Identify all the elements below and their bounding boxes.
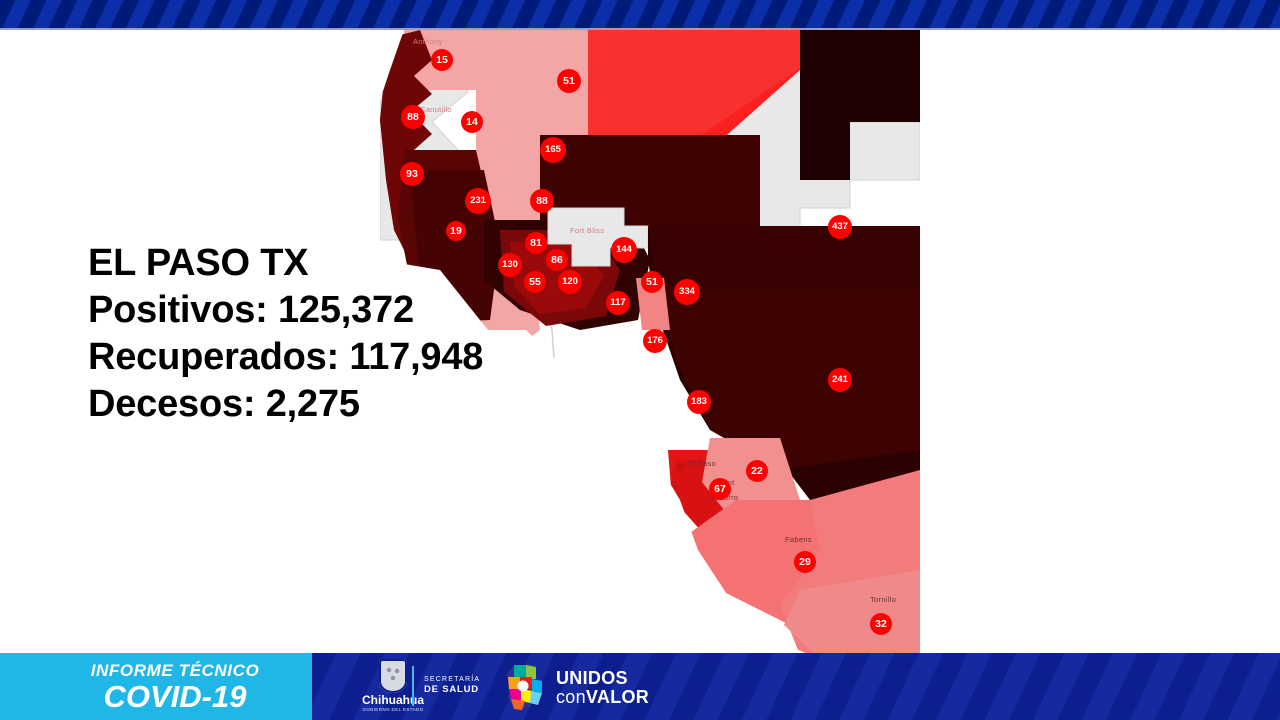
stats-title: EL PASO TX <box>88 240 558 287</box>
map-marker[interactable]: 67 <box>709 478 731 500</box>
unidos-con: con <box>556 687 586 707</box>
map-marker[interactable]: 51 <box>557 69 581 93</box>
unidos-line-2: conVALOR <box>556 688 649 707</box>
secretaria-line-2: DE SALUD <box>424 684 480 696</box>
map-marker-value: 241 <box>828 368 852 392</box>
map-marker[interactable]: 22 <box>746 460 768 482</box>
map-marker-value: 51 <box>557 69 581 93</box>
unidos-con-valor-text: UNIDOS conVALOR <box>556 669 649 707</box>
map-marker-value: 67 <box>709 478 731 500</box>
unidos-valor: VALOR <box>586 687 649 707</box>
map-marker[interactable]: 117 <box>606 291 630 315</box>
map-marker-value: 437 <box>828 215 852 239</box>
map-region-se-strip <box>656 290 920 470</box>
map-marker-value: 231 <box>465 188 491 214</box>
chihuahua-subtitle: GOBIERNO DEL ESTADO <box>352 707 434 712</box>
map-marker[interactable]: 93 <box>400 162 424 186</box>
map-marker[interactable]: 437 <box>828 215 852 239</box>
map-marker[interactable]: 144 <box>611 237 637 263</box>
map-marker[interactable]: 165 <box>540 137 566 163</box>
map-marker-value: 144 <box>611 237 637 263</box>
map-marker[interactable]: 88 <box>401 105 425 129</box>
map-marker-value: 93 <box>400 162 424 186</box>
map-label-fort-bliss: Fort Bliss <box>570 226 604 235</box>
el-paso-city-dot <box>676 463 684 471</box>
map-marker[interactable]: 51 <box>641 271 663 293</box>
map-label-tornillo: Tornillo <box>870 595 896 604</box>
informe-line-2: COVID-19 <box>60 680 290 713</box>
map-marker-value: 32 <box>870 613 892 635</box>
map-marker-value: 19 <box>446 221 466 241</box>
unidos-line-1: UNIDOS <box>556 669 649 688</box>
map-marker[interactable]: 231 <box>465 188 491 214</box>
stats-positivos: Positivos: 125,372 <box>88 287 558 334</box>
bottom-banner: INFORME TÉCNICO COVID-19 Chihuahua GOBIE… <box>0 653 1280 720</box>
map-marker-value: 51 <box>641 271 663 293</box>
map-marker-value: 176 <box>643 329 667 353</box>
map-marker-value: 29 <box>794 551 816 573</box>
secretaria-line-1: SECRETARÍA <box>424 675 480 684</box>
map-label-fabens: Fabens <box>785 535 812 544</box>
map-marker-value: 14 <box>461 111 483 133</box>
map-marker-value: 334 <box>674 279 700 305</box>
el-paso-stats-block: EL PASO TX Positivos: 125,372 Recuperado… <box>88 240 558 428</box>
map-marker-value: 165 <box>540 137 566 163</box>
map-marker-value: 88 <box>401 105 425 129</box>
map-label-el-paso: El Paso <box>688 459 716 468</box>
map-marker-value: 120 <box>558 270 582 294</box>
map-marker-value: 183 <box>687 390 711 414</box>
map-marker[interactable]: 15 <box>431 49 453 71</box>
map-marker[interactable]: 14 <box>461 111 483 133</box>
logo-divider <box>412 666 414 706</box>
map-marker[interactable]: 241 <box>828 368 852 392</box>
secretaria-de-salud-logo: SECRETARÍA DE SALUD <box>424 675 480 696</box>
stats-decesos: Decesos: 2,275 <box>88 381 558 428</box>
map-marker[interactable]: 120 <box>558 270 582 294</box>
informe-line-1: INFORME TÉCNICO <box>60 661 290 680</box>
map-marker[interactable]: 19 <box>446 221 466 241</box>
map-marker[interactable]: 32 <box>870 613 892 635</box>
map-marker-value: 117 <box>606 291 630 315</box>
map-marker[interactable]: 88 <box>530 189 554 213</box>
informe-tecnico-covid-logo: INFORME TÉCNICO COVID-19 <box>60 661 290 713</box>
map-marker[interactable]: 183 <box>687 390 711 414</box>
top-banner-stripes <box>0 0 1280 28</box>
stats-recuperados: Recuperados: 117,948 <box>88 334 558 381</box>
map-marker-value: 88 <box>530 189 554 213</box>
map-label-anthony: Anthony <box>413 37 443 46</box>
map-marker-value: 22 <box>746 460 768 482</box>
chihuahua-name: Chihuahua <box>352 694 434 707</box>
map-marker[interactable]: 334 <box>674 279 700 305</box>
map-marker[interactable]: 176 <box>643 329 667 353</box>
chihuahua-government-logo: Chihuahua GOBIERNO DEL ESTADO <box>352 659 434 715</box>
map-marker[interactable]: 29 <box>794 551 816 573</box>
unidos-con-valor-state-icon <box>500 663 552 711</box>
chihuahua-shield-icon <box>379 659 407 693</box>
map-marker-value: 15 <box>431 49 453 71</box>
